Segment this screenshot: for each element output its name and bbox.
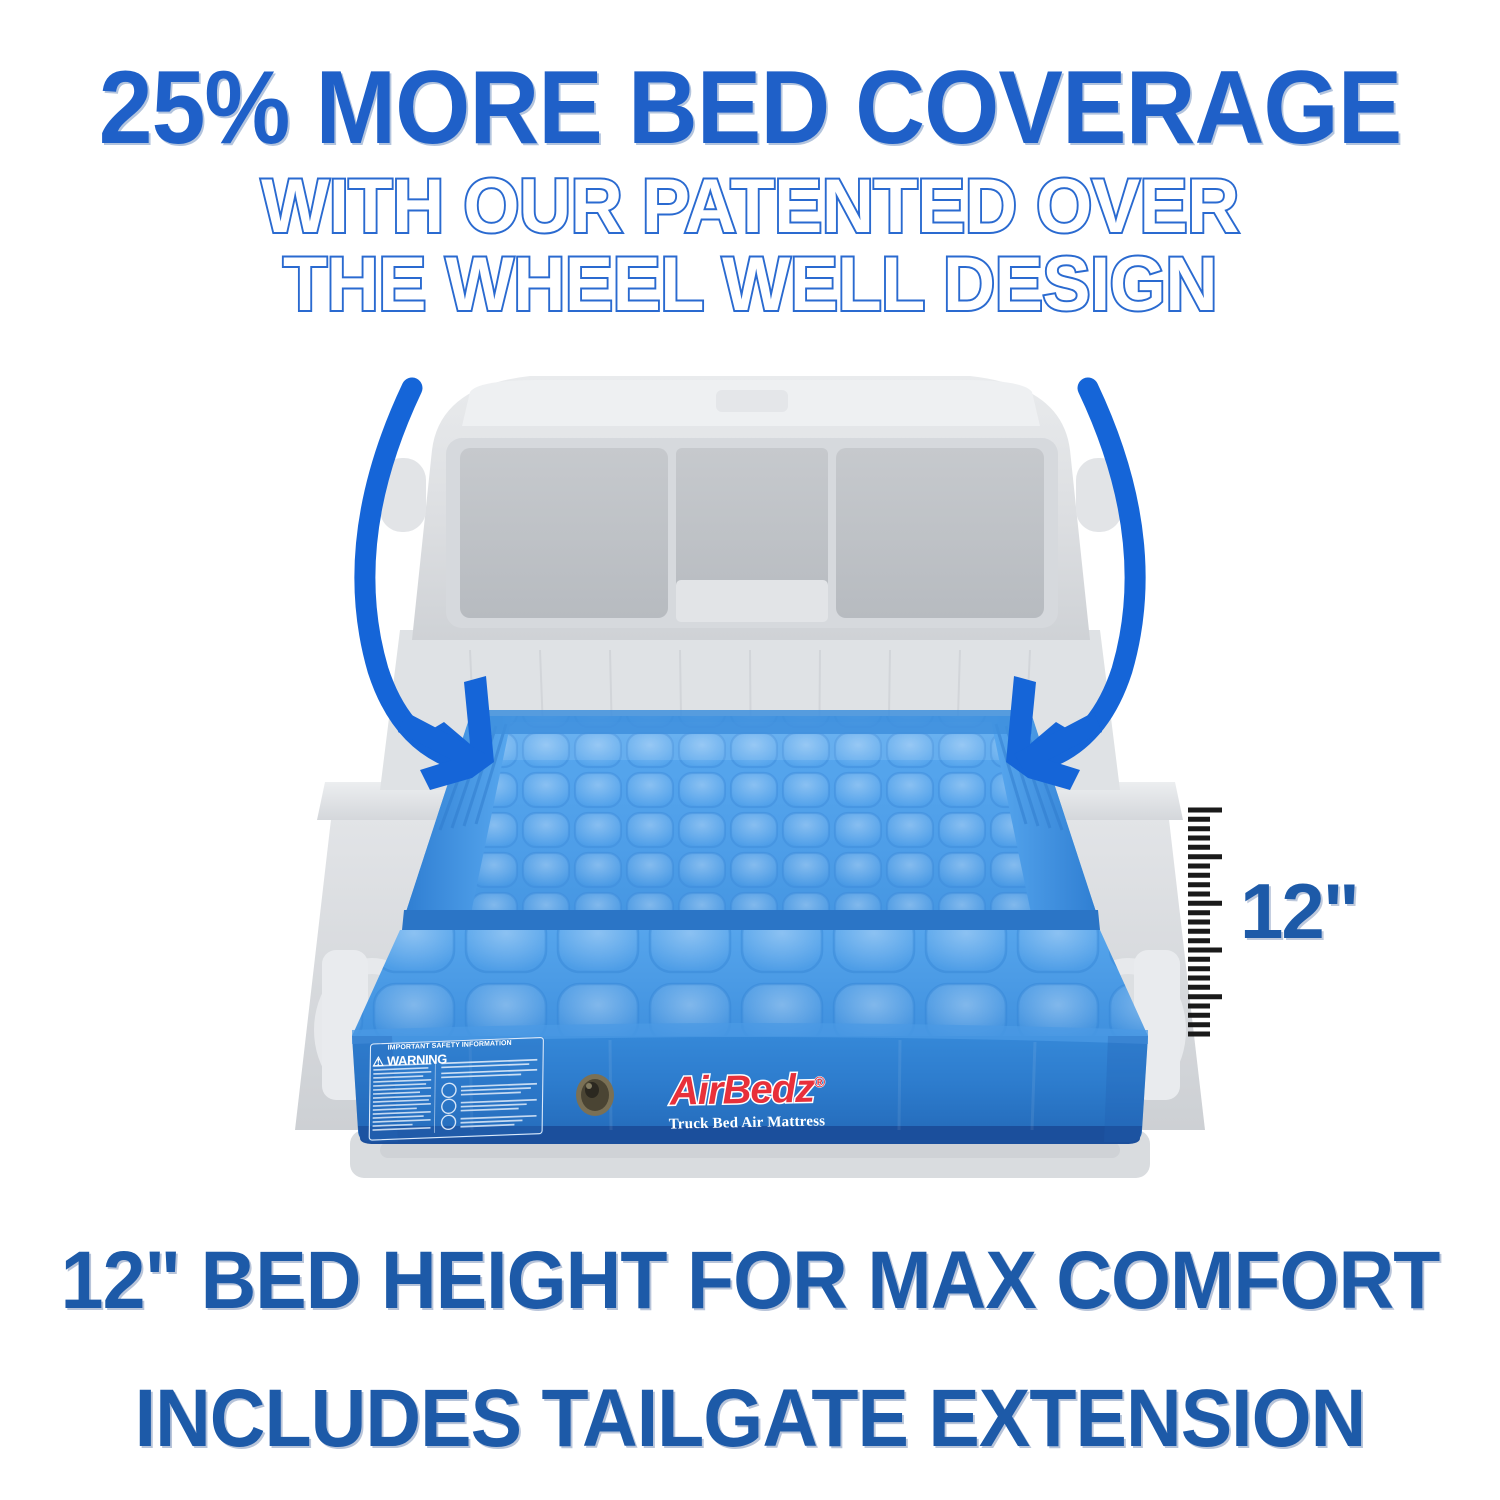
page-title: 25% MORE BED COVERAGE (53, 56, 1448, 160)
page-subtitle-line-2: THE WHEEL WELL DESIGN (38, 246, 1463, 324)
curved-arrow-down-right-icon (365, 388, 494, 790)
ruler-icon (1182, 806, 1228, 1038)
measurement-label: 12" (1240, 872, 1358, 950)
feature-line-tailgate-extension: INCLUDES TAILGATE EXTENSION (45, 1378, 1455, 1460)
page-subtitle: WITH OUR PATENTED OVER THE WHEEL WELL DE… (38, 168, 1463, 325)
product-illustration (0, 330, 1500, 1230)
callout-arrows (0, 330, 1500, 1230)
feature-line-bed-height: 12" BED HEIGHT FOR MAX COMFORT (45, 1240, 1455, 1322)
curved-arrow-down-left-icon (1006, 388, 1135, 790)
page-subtitle-line-1: WITH OUR PATENTED OVER (38, 168, 1463, 246)
product-feature-poster: 25% MORE BED COVERAGE WITH OUR PATENTED … (0, 0, 1500, 1500)
